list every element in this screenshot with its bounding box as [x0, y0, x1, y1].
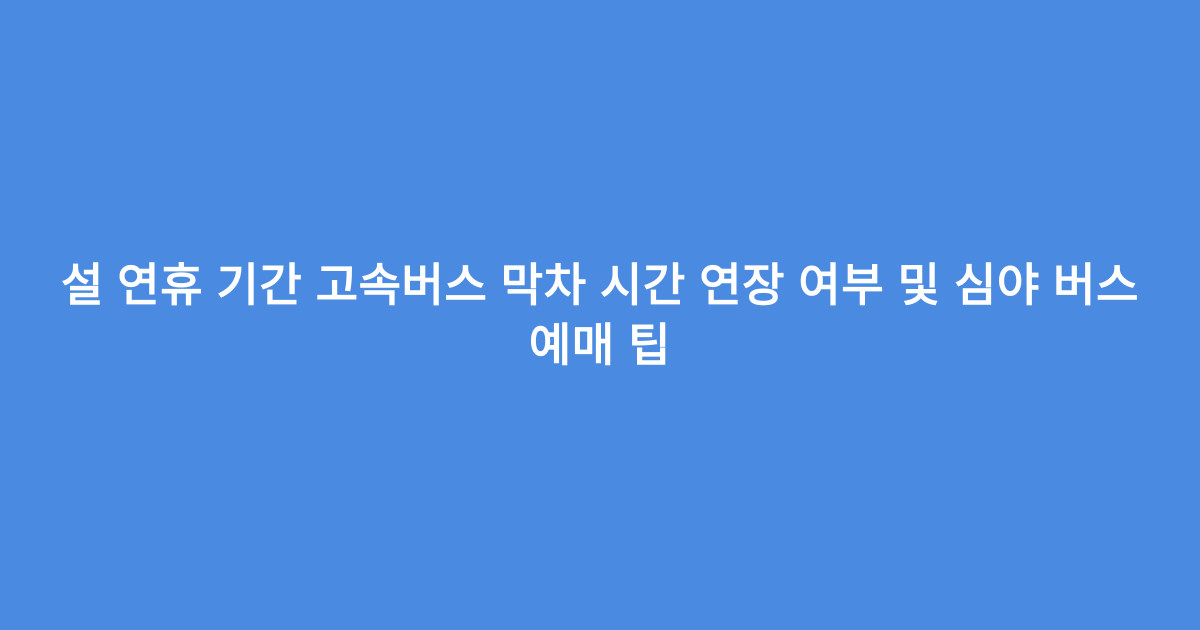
- og-card: 설 연휴 기간 고속버스 막차 시간 연장 여부 및 심야 버스 예매 팁: [0, 0, 1200, 630]
- page-title: 설 연휴 기간 고속버스 막차 시간 연장 여부 및 심야 버스 예매 팁: [56, 255, 1144, 375]
- title-block: 설 연휴 기간 고속버스 막차 시간 연장 여부 및 심야 버스 예매 팁: [56, 255, 1144, 375]
